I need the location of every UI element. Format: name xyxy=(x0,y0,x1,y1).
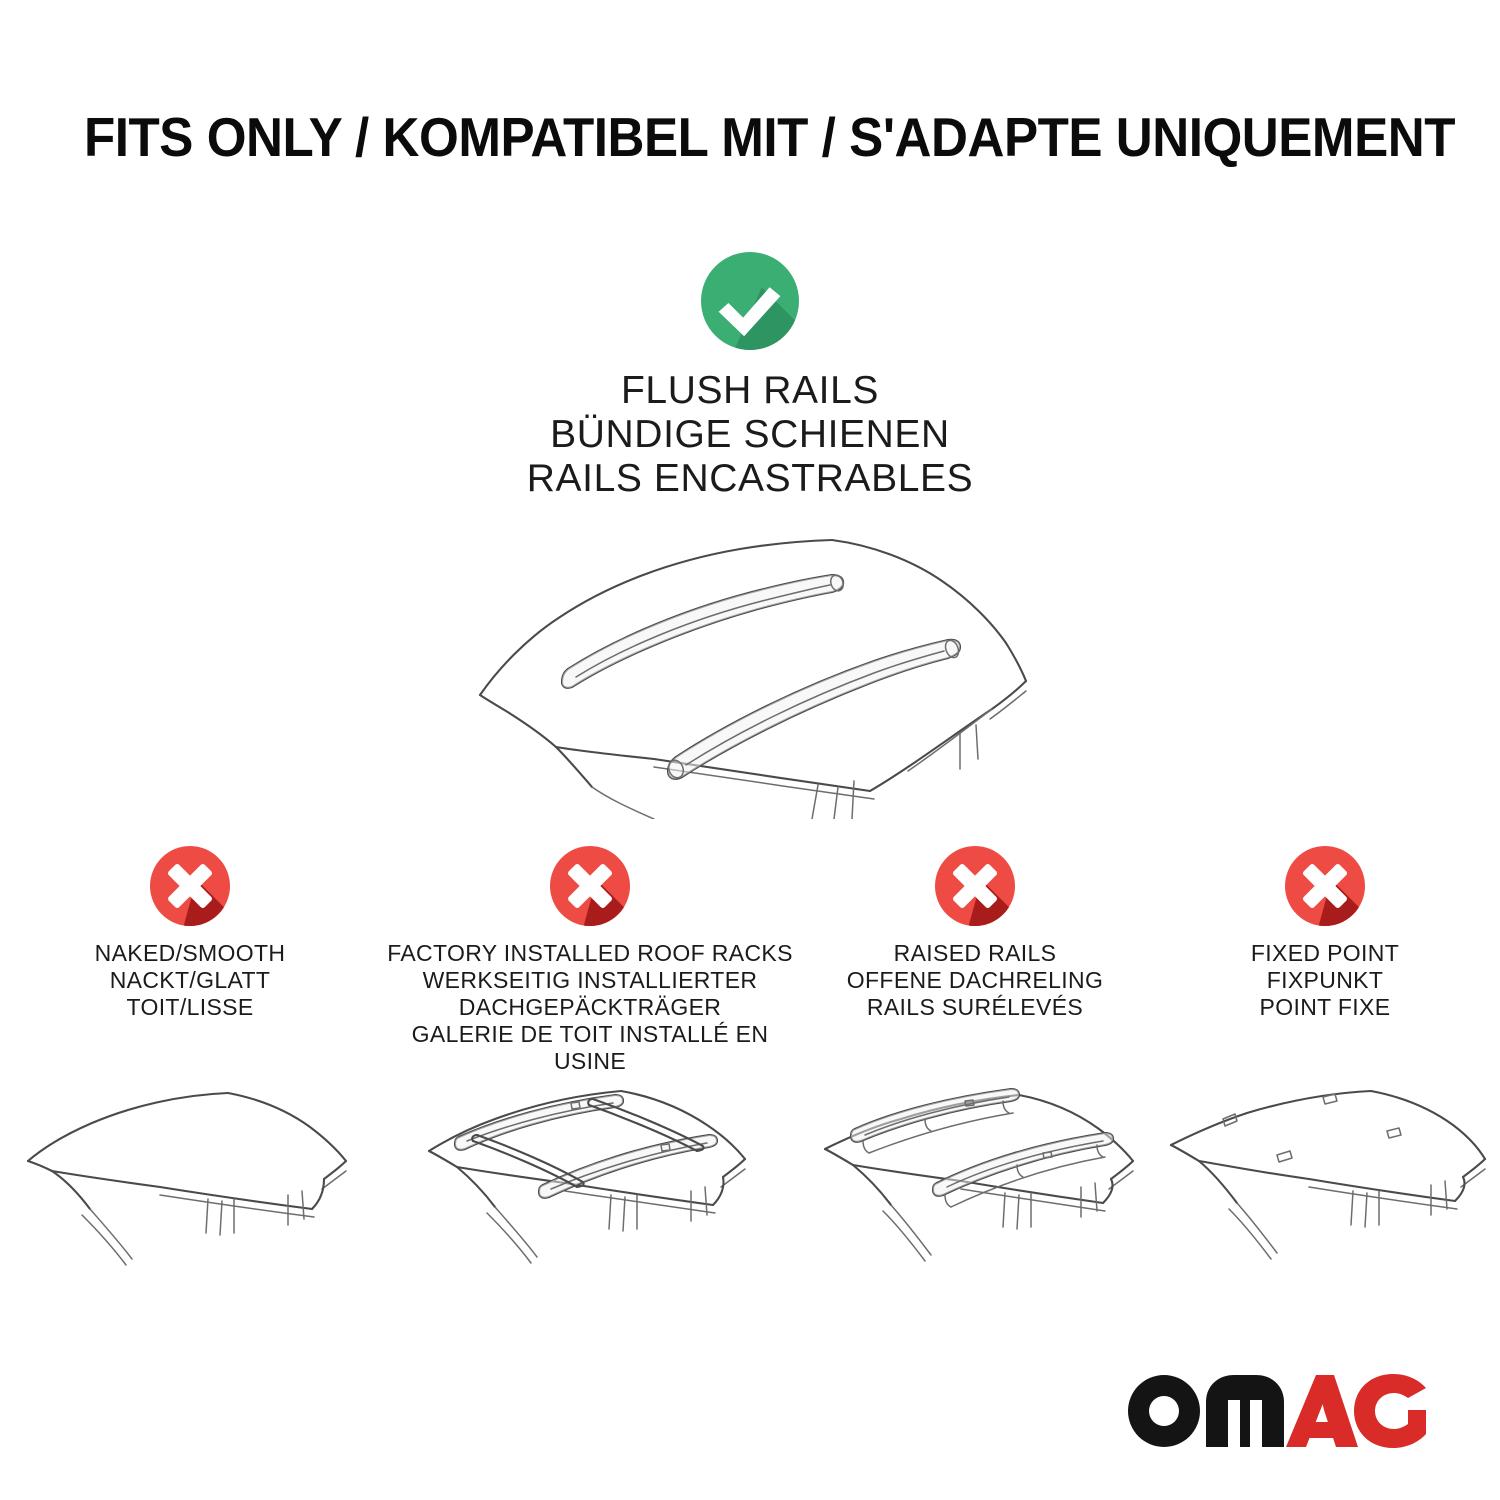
car-roof-factory-roof-racks-illustration xyxy=(415,1083,765,1283)
car-roof-naked-smooth-illustration xyxy=(20,1083,360,1283)
car-roof-fixed-point-illustration xyxy=(1155,1083,1495,1283)
x-circle-icon xyxy=(150,846,230,926)
option-caption: RAISED RAILS OFFENE DACHRELING RAILS SUR… xyxy=(847,940,1103,1021)
option-caption: NAKED/SMOOTH NACKT/GLATT TOIT/LISSE xyxy=(95,940,286,1021)
car-roof-flush-rails-illustration xyxy=(440,519,1060,819)
option-fixed-point: FIXED POINT FIXPUNKT POINT FIXE xyxy=(1150,846,1500,1283)
x-circle-icon xyxy=(550,846,630,926)
incompatible-section: NAKED/SMOOTH NACKT/GLATT TOIT/LISSE xyxy=(0,846,1500,1283)
compatible-section: FLUSH RAILS BÜNDIGE SCHIENEN RAILS ENCAS… xyxy=(0,252,1500,819)
page-title-text: FITS ONLY / KOMPATIBEL MIT / S'ADAPTE UN… xyxy=(84,105,1455,169)
option-caption: FACTORY INSTALLED ROOF RACKS WERKSEITIG … xyxy=(380,940,800,1075)
check-circle-icon xyxy=(701,252,799,350)
option-factory-roof-racks: FACTORY INSTALLED ROOF RACKS WERKSEITIG … xyxy=(380,846,800,1283)
car-roof-raised-rails-illustration xyxy=(805,1083,1145,1283)
compatible-caption: FLUSH RAILS BÜNDIGE SCHIENEN RAILS ENCAS… xyxy=(527,369,973,501)
x-circle-icon xyxy=(1285,846,1365,926)
option-raised-rails: RAISED RAILS OFFENE DACHRELING RAILS SUR… xyxy=(800,846,1150,1283)
option-caption: FIXED POINT FIXPUNKT POINT FIXE xyxy=(1251,940,1399,1021)
option-naked-smooth: NAKED/SMOOTH NACKT/GLATT TOIT/LISSE xyxy=(0,846,380,1283)
x-circle-icon xyxy=(935,846,1015,926)
omac-logo xyxy=(1128,1374,1430,1448)
page-title: FITS ONLY / KOMPATIBEL MIT / S'ADAPTE UN… xyxy=(84,106,1424,168)
